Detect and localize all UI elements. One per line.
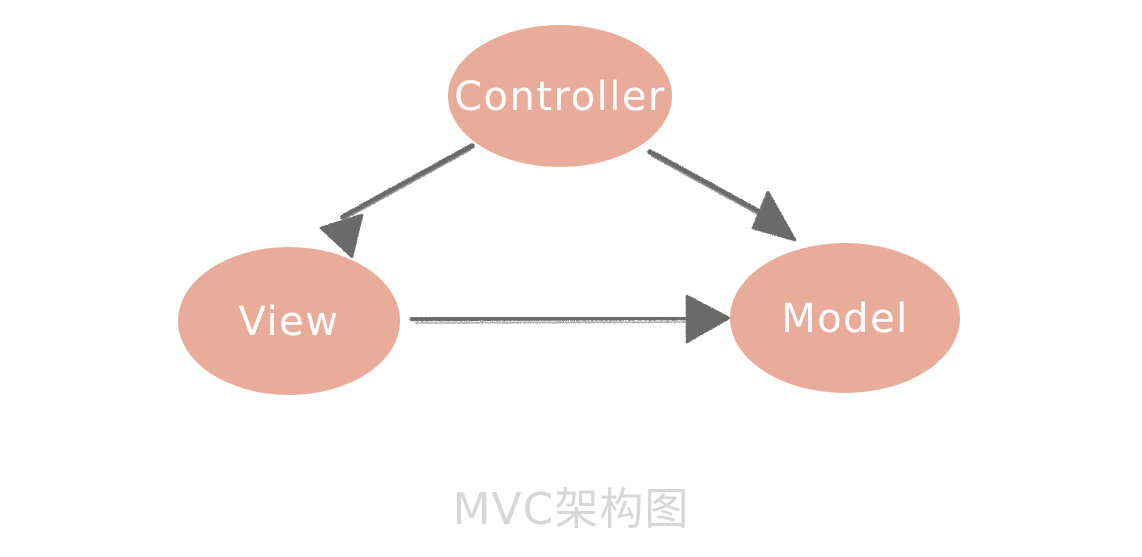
node-model[interactable]: Model: [730, 243, 960, 393]
edge-line-controller-model: [650, 152, 772, 219]
arrowhead-view-model: [687, 296, 729, 342]
node-controller-label: Controller: [454, 74, 666, 120]
edge-controller-to-view: [321, 146, 472, 257]
edge-line-controller-view-texture: [341, 150, 470, 221]
node-view[interactable]: View: [178, 247, 400, 395]
mvc-diagram: Controller View Model MVC架构图: [0, 0, 1142, 557]
diagram-caption: MVC架构图: [453, 484, 690, 535]
edge-controller-to-model: [650, 152, 795, 240]
node-controller[interactable]: Controller: [448, 25, 672, 167]
node-model-label: Model: [781, 296, 909, 342]
arrowhead-controller-model: [753, 192, 795, 240]
edge-line-controller-model-texture: [652, 156, 774, 223]
arrowhead-controller-view: [321, 215, 362, 257]
edge-line-view-model-texture: [416, 322, 690, 323]
edge-line-controller-view: [343, 146, 472, 217]
diagram-canvas: Controller View Model MVC架构图: [0, 0, 1142, 557]
edge-line-view-model: [412, 318, 692, 319]
node-view-label: View: [239, 299, 340, 345]
edge-view-to-model: [412, 296, 729, 342]
